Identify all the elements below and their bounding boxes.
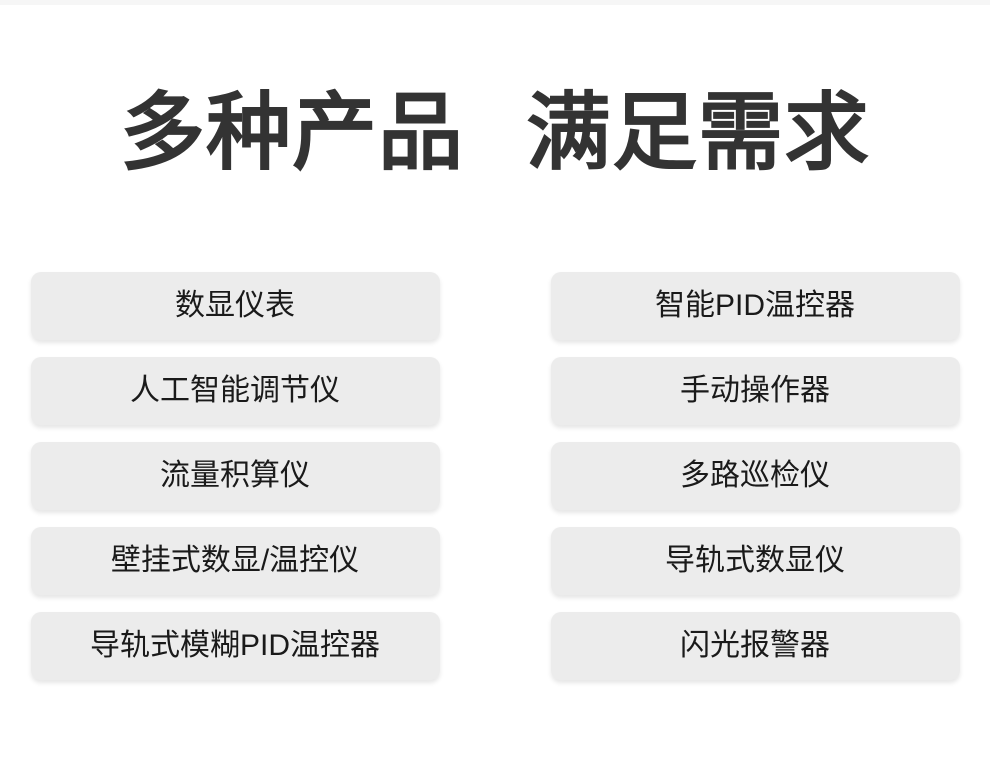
page-title-phrase-one: 多种产品 [120, 86, 464, 181]
product-card-label: 手动操作器 [680, 374, 830, 408]
product-card[interactable]: 数显仪表 [31, 272, 440, 340]
product-card-label: 导轨式模糊PID温控器 [90, 629, 380, 663]
top-section-divider [0, 0, 990, 5]
product-column-right: 智能PID温控器 手动操作器 多路巡检仪 导轨式数显仪 闪光报警器 [551, 272, 960, 680]
product-card-label: 数显仪表 [175, 289, 295, 323]
product-card-label: 人工智能调节仪 [130, 374, 340, 408]
product-card-label: 流量积算仪 [160, 459, 310, 493]
product-card[interactable]: 壁挂式数显/温控仪 [31, 527, 440, 595]
product-card-label: 导轨式数显仪 [665, 544, 845, 578]
product-card[interactable]: 流量积算仪 [31, 442, 440, 510]
product-card-label: 智能PID温控器 [655, 289, 855, 323]
product-card[interactable]: 多路巡检仪 [551, 442, 960, 510]
product-card[interactable]: 智能PID温控器 [551, 272, 960, 340]
page-title-phrase-two: 满足需求 [526, 86, 870, 181]
product-card-label: 壁挂式数显/温控仪 [111, 544, 359, 578]
product-card-label: 多路巡检仪 [680, 459, 830, 493]
product-card[interactable]: 人工智能调节仪 [31, 357, 440, 425]
product-category-grid: 数显仪表 人工智能调节仪 流量积算仪 壁挂式数显/温控仪 导轨式模糊PID温控器… [0, 272, 990, 680]
product-card[interactable]: 闪光报警器 [551, 612, 960, 680]
product-card-label: 闪光报警器 [680, 629, 830, 663]
product-card[interactable]: 手动操作器 [551, 357, 960, 425]
product-column-left: 数显仪表 人工智能调节仪 流量积算仪 壁挂式数显/温控仪 导轨式模糊PID温控器 [31, 272, 440, 680]
page-title: 多种产品满足需求 [0, 84, 990, 184]
product-card[interactable]: 导轨式模糊PID温控器 [31, 612, 440, 680]
product-card[interactable]: 导轨式数显仪 [551, 527, 960, 595]
product-categories-page: 多种产品满足需求 数显仪表 人工智能调节仪 流量积算仪 壁挂式数显/温控仪 导轨… [0, 0, 990, 784]
